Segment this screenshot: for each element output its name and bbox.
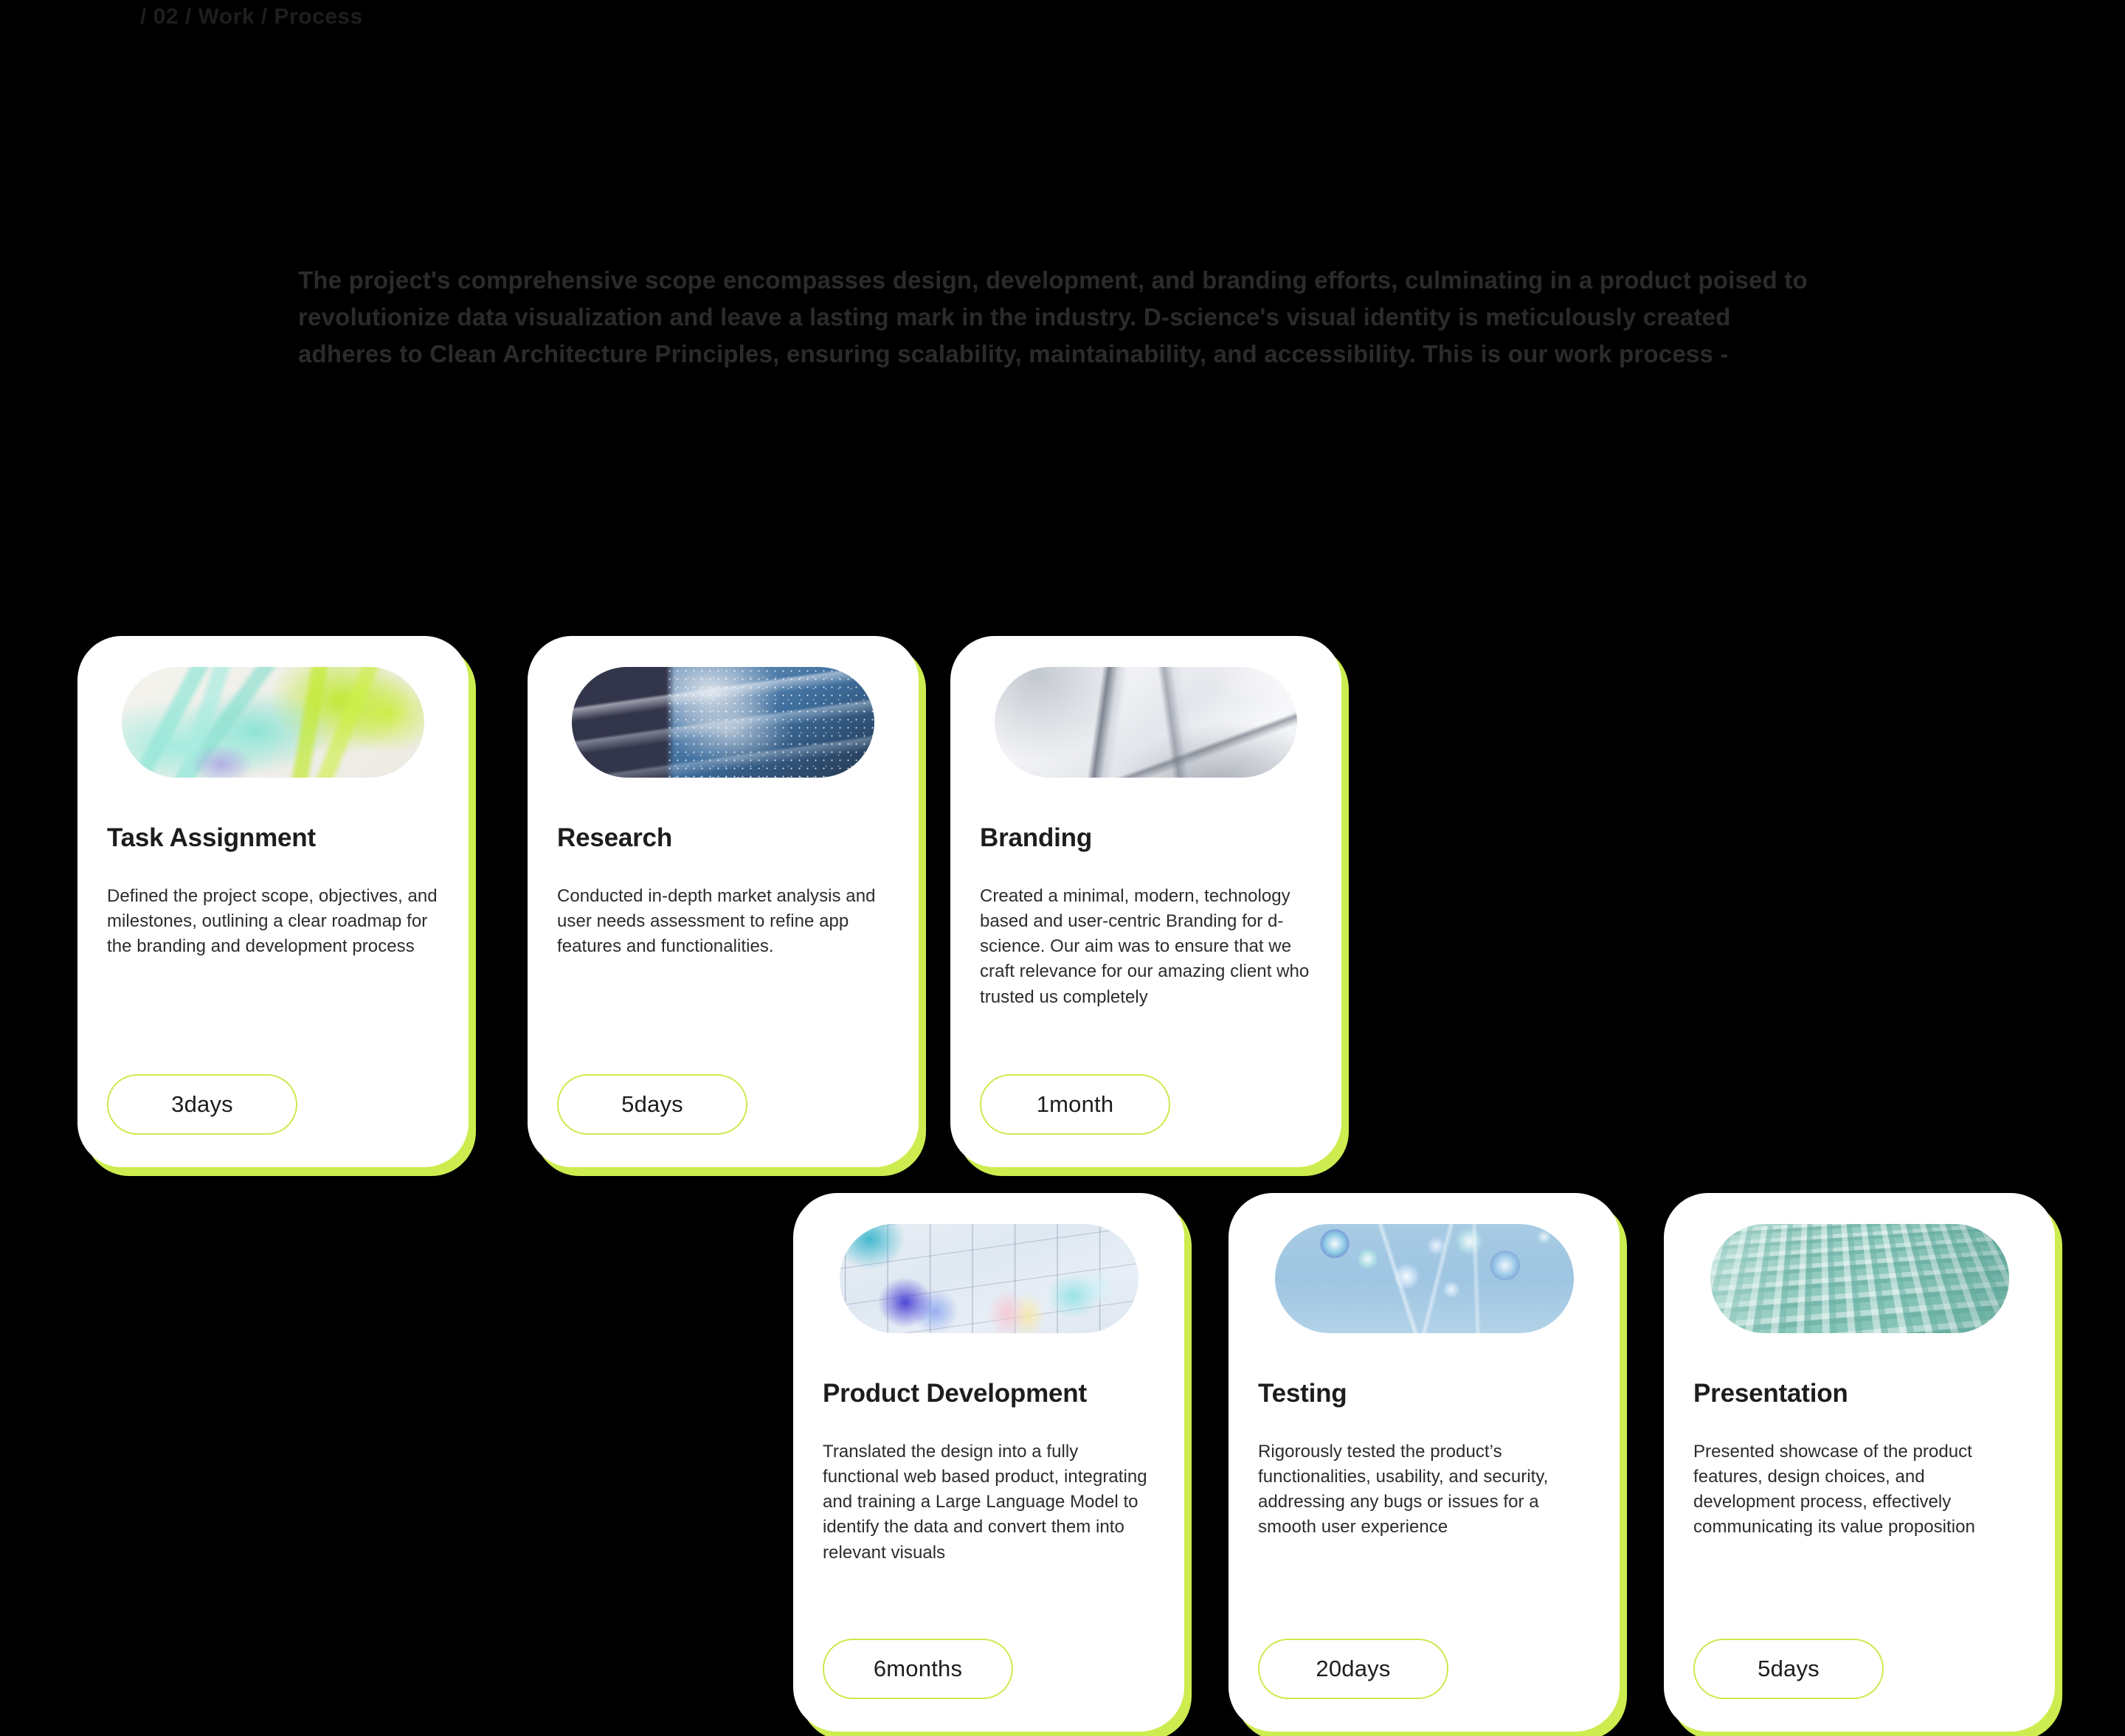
navy-blue-dewy-metal-icon: [572, 667, 874, 778]
card-title: Product Development: [823, 1379, 1155, 1408]
card-title: Branding: [980, 823, 1312, 853]
card-description: Rigorously tested the product’s function…: [1258, 1439, 1590, 1540]
mint-cube-field-icon: [1710, 1224, 2009, 1333]
card-description: Defined the project scope, objectives, a…: [107, 884, 439, 959]
process-card-testing[interactable]: Testing Rigorously tested the product’s …: [1229, 1193, 1620, 1732]
card-duration-badge[interactable]: 6months: [823, 1639, 1013, 1699]
card-spacer: [823, 1566, 1155, 1639]
card-thumbnail: [995, 667, 1297, 778]
card-description: Created a minimal, modern, technology ba…: [980, 884, 1312, 1009]
card-spacer: [107, 959, 439, 1074]
iridescent-glass-cubes-icon: [840, 1224, 1138, 1333]
card-description: Translated the design into a fully funct…: [823, 1439, 1155, 1565]
card-spacer: [1258, 1540, 1590, 1639]
mint-lime-spikes-icon: [122, 667, 424, 778]
card-duration-badge[interactable]: 20days: [1258, 1639, 1448, 1699]
card-spacer: [1693, 1540, 2025, 1639]
card-duration-badge[interactable]: 3days: [107, 1074, 297, 1135]
card-spacer: [980, 1010, 1312, 1074]
process-card-branding[interactable]: Branding Created a minimal, modern, tech…: [950, 636, 1341, 1167]
card-title: Testing: [1258, 1379, 1590, 1408]
process-card-task-assignment[interactable]: Task Assignment Defined the project scop…: [77, 636, 469, 1167]
card-description: Conducted in-depth market analysis and u…: [557, 884, 889, 959]
card-spacer: [557, 959, 889, 1074]
card-title: Task Assignment: [107, 823, 439, 853]
card-title: Presentation: [1693, 1379, 2025, 1408]
card-thumbnail: [840, 1224, 1138, 1333]
card-duration-badge[interactable]: 5days: [1693, 1639, 1884, 1699]
process-card-presentation[interactable]: Presentation Presented showcase of the p…: [1664, 1193, 2055, 1732]
card-thumbnail: [1710, 1224, 2009, 1333]
card-description: Presented showcase of the product featur…: [1693, 1439, 2025, 1540]
process-card-product-development[interactable]: Product Development Translated the desig…: [793, 1193, 1184, 1732]
process-card-board: Task Assignment Defined the project scop…: [0, 0, 2125, 1736]
process-card-research[interactable]: Research Conducted in-depth market analy…: [528, 636, 919, 1167]
card-thumbnail: [1275, 1224, 1574, 1333]
card-thumbnail: [572, 667, 874, 778]
card-title: Research: [557, 823, 889, 853]
silver-flowing-abstract-icon: [995, 667, 1297, 778]
blue-bubbles-icon: [1275, 1224, 1574, 1333]
card-thumbnail: [122, 667, 424, 778]
card-duration-badge[interactable]: 5days: [557, 1074, 747, 1135]
card-duration-badge[interactable]: 1month: [980, 1074, 1170, 1135]
